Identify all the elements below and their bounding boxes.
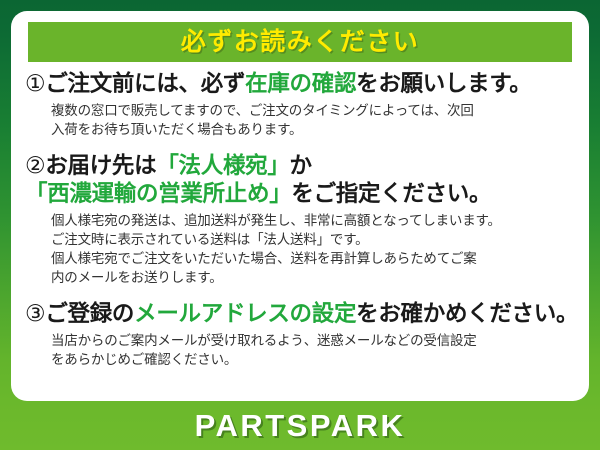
notice-heading-2-highlight-1: 「法人様宛」 bbox=[156, 153, 289, 178]
notice-heading-1-part-2: をお願いします。 bbox=[356, 71, 531, 96]
notice-sub-2-line-2: 個人様宅宛でご注文をいただいた場合、送料を再計算しあらためてご案 bbox=[51, 249, 575, 268]
notice-sub-2-line-0: 個人様宅宛の発送は、追加送料が発生し、非常に高額となってしまいます。 bbox=[51, 211, 575, 230]
notice-heading-2-highlight-2: 「西濃運輸の営業所止め」 bbox=[25, 181, 291, 206]
notice-heading-1-part-0: ご注文前には、必ず bbox=[45, 71, 245, 96]
notice-list: ①ご注文前には、必ず在庫の確認をお願いします。 複数の窓口で販売してますので、ご… bbox=[11, 69, 589, 369]
notice-number-2: ② bbox=[25, 152, 45, 178]
notice-sub-2-line-1: ご注文時に表示されている送料は「法人送料」です。 bbox=[51, 230, 575, 249]
notice-heading-2-part-4: をご指定ください。 bbox=[291, 181, 491, 206]
brand-logo: PARTSPARK bbox=[195, 410, 406, 441]
footer-logo-area: PARTSPARK bbox=[0, 401, 600, 450]
notice-item-1: ①ご注文前には、必ず在庫の確認をお願いします。 複数の窓口で販売してますので、ご… bbox=[25, 69, 575, 139]
notice-heading-1-highlight: 在庫の確認 bbox=[245, 71, 356, 96]
notice-sub-3-line-1: をあらかじめご確認ください。 bbox=[51, 350, 575, 369]
notice-number-3: ③ bbox=[25, 300, 45, 326]
page-title: 必ずお読みください bbox=[181, 30, 420, 55]
notice-sub-1: 複数の窓口で販売してますので、ご注文のタイミングによっては、次回 入荷をお待ち頂… bbox=[25, 101, 575, 139]
notice-heading-3: ③ご登録のメールアドレスの設定をお確かめください。 bbox=[25, 299, 575, 328]
notice-item-2: ②お届け先は「法人様宛」か「西濃運輸の営業所止め」をご指定ください。 個人様宅宛… bbox=[25, 151, 575, 287]
notice-heading-3-part-0: ご登録の bbox=[45, 301, 134, 326]
notice-heading-2-part-2: か bbox=[290, 153, 312, 178]
title-banner: 必ずお読みください bbox=[28, 22, 572, 62]
notice-sub-2-line-3: 内のメールをお送りします。 bbox=[51, 268, 575, 287]
notice-sub-2: 個人様宅宛の発送は、追加送料が発生し、非常に高額となってしまいます。 ご注文時に… bbox=[25, 211, 575, 288]
notice-sub-1-line-1: 入荷をお待ち頂いただく場合もあります。 bbox=[51, 120, 575, 139]
notice-heading-2: ②お届け先は「法人様宛」か「西濃運輸の営業所止め」をご指定ください。 bbox=[25, 151, 575, 208]
content-card: 必ずお読みください ①ご注文前には、必ず在庫の確認をお願いします。 複数の窓口で… bbox=[11, 11, 589, 401]
notice-heading-3-part-2: をお確かめください。 bbox=[356, 301, 578, 326]
notice-sub-3-line-0: 当店からのご案内メールが受け取れるよう、迷惑メールなどの受信設定 bbox=[51, 331, 575, 350]
notice-heading-2-part-0: お届け先は bbox=[45, 153, 156, 178]
notice-heading-1: ①ご注文前には、必ず在庫の確認をお願いします。 bbox=[25, 69, 575, 98]
notice-number-1: ① bbox=[25, 70, 45, 96]
notice-item-3: ③ご登録のメールアドレスの設定をお確かめください。 当店からのご案内メールが受け… bbox=[25, 299, 575, 369]
notice-heading-3-highlight: メールアドレスの設定 bbox=[134, 301, 356, 326]
notice-sub-1-line-0: 複数の窓口で販売してますので、ご注文のタイミングによっては、次回 bbox=[51, 101, 575, 120]
notice-sub-3: 当店からのご案内メールが受け取れるよう、迷惑メールなどの受信設定 をあらかじめご… bbox=[25, 331, 575, 369]
notice-banner: 必ずお読みください ①ご注文前には、必ず在庫の確認をお願いします。 複数の窓口で… bbox=[0, 0, 600, 450]
